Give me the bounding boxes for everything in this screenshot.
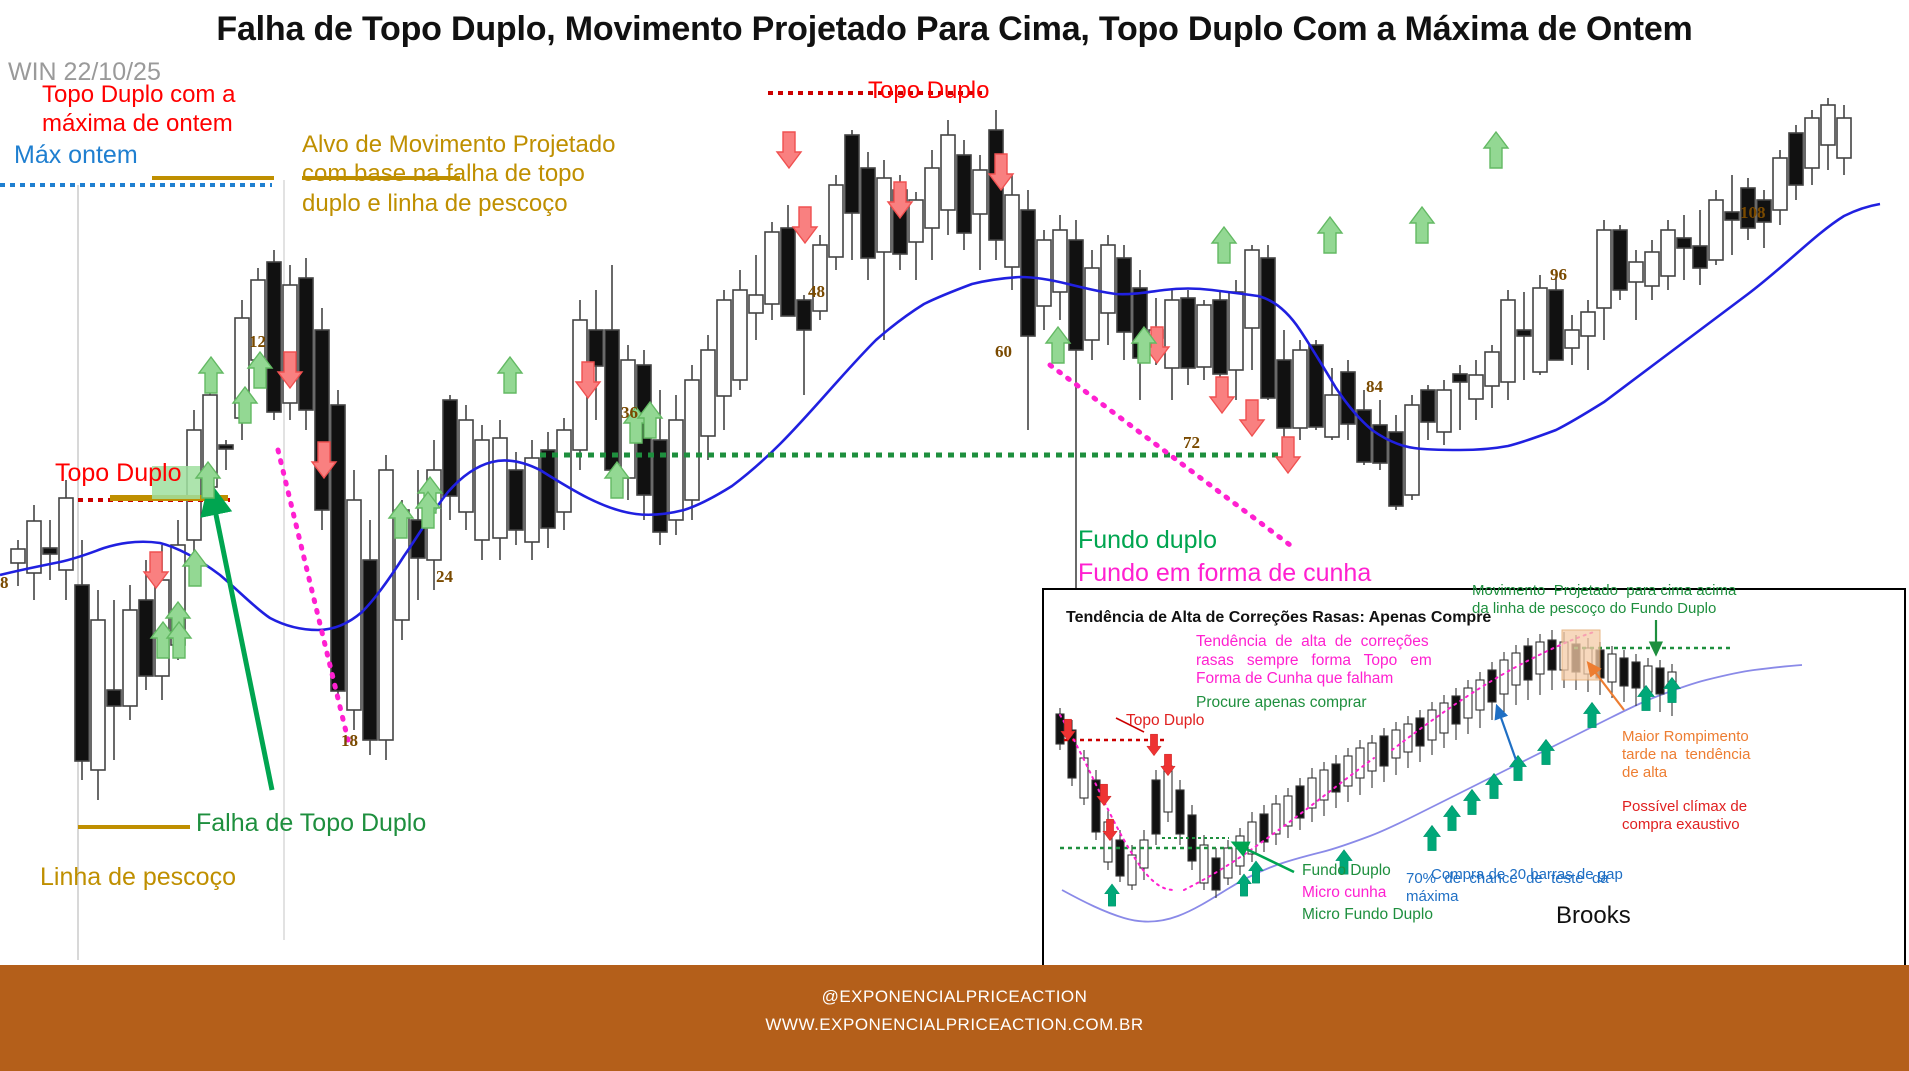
inset-fundo-duplo-label: Fundo Duplo <box>1302 862 1391 881</box>
bar-label: 60 <box>995 342 1012 361</box>
bar-label: 24 <box>436 567 454 586</box>
bar-label: 72 <box>1183 433 1200 452</box>
bar-label: 12 <box>249 332 266 351</box>
inset-red-note: Possível clímax de compra exaustivo <box>1622 798 1802 834</box>
annotation-max-ontem: Máx ontem <box>14 140 138 171</box>
inset-blue-pointer <box>1499 712 1516 760</box>
footer-handle: @EXPONENCIALPRICEACTION <box>0 987 1909 1007</box>
bar-label: 8 <box>0 573 9 592</box>
annotation-topo-duplo-left: Topo Duplo <box>55 458 181 489</box>
annotation-topo-duplo-top: Topo Duplo <box>868 76 989 105</box>
inset-title: Tendência de Alta de Correções Rasas: Ap… <box>1066 608 1491 627</box>
footer-bar: @EXPONENCIALPRICEACTION WWW.EXPONENCIALP… <box>0 965 1909 1071</box>
inset-price-chart <box>1044 590 1904 975</box>
chart-infographic: Falha de Topo Duplo, Movimento Projetado… <box>0 0 1909 1071</box>
annotation-alvo-movimento: Alvo de Movimento Projetado com base na … <box>302 130 672 218</box>
inset-chart-panel: Tendência de Alta de Correções Rasas: Ap… <box>1042 588 1906 977</box>
inset-green-note: Procure apenas comprar <box>1196 694 1367 713</box>
annotation-fundo-cunha: Fundo em forma de cunha <box>1078 558 1371 589</box>
falha-topo-duplo-arrow <box>213 500 272 790</box>
annotation-falha-topo-duplo: Falha de Topo Duplo <box>196 808 426 839</box>
inset-orange-note: Maior Rompimento tarde na tendência de a… <box>1622 728 1802 782</box>
annotation-topo-duplo-max-ontem: Topo Duplo com a máxima de ontem <box>42 80 235 139</box>
annotation-linha-pescoco: Linha de pescoço <box>40 862 236 893</box>
bar-label: 18 <box>341 731 358 750</box>
inset-topo-duplo-label: Topo Duplo <box>1126 712 1204 731</box>
bar-label: 48 <box>808 282 825 301</box>
inset-magenta-note: Tendência de alta de correções rasas sem… <box>1196 633 1456 689</box>
bar-label: 96 <box>1550 265 1567 284</box>
inset-micro-cunha-label: Micro cunha <box>1302 884 1386 903</box>
inset-blue-note2: 70% de chance de teste da máxima <box>1406 870 1626 906</box>
inset-author: Brooks <box>1556 902 1631 931</box>
footer-site: WWW.EXPONENCIALPRICEACTION.COM.BR <box>0 1015 1909 1035</box>
annotation-fundo-duplo: Fundo duplo <box>1078 525 1217 556</box>
bar-label: 36 <box>621 403 638 422</box>
inset-micro-fundo-duplo-label: Micro Fundo Duplo <box>1302 906 1433 925</box>
inset-green-top-note: Movimento Projetado para cima acima da l… <box>1472 582 1792 618</box>
bar-label: 108 <box>1740 203 1766 222</box>
bar-label: 84 <box>1366 377 1384 396</box>
